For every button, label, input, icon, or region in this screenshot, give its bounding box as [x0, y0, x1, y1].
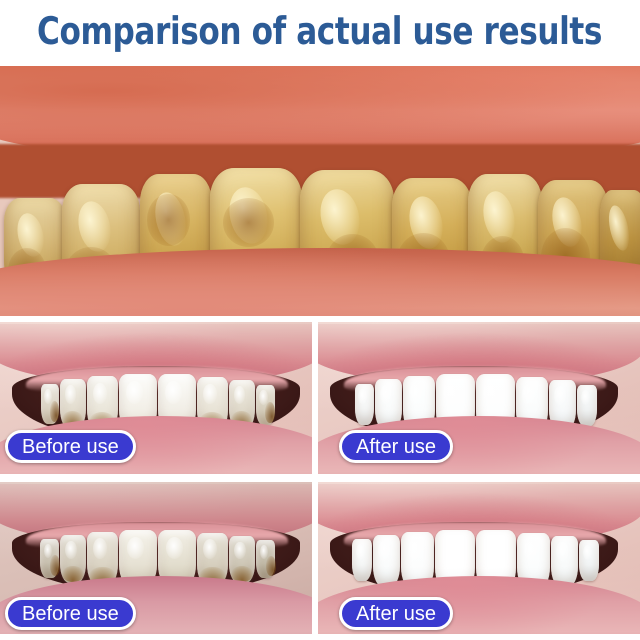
- tooth-shine: [522, 384, 536, 405]
- tooth-shine: [203, 384, 217, 405]
- tooth-shine: [93, 383, 107, 404]
- tooth-shine: [165, 381, 182, 404]
- badge-before-use-upper: Before use: [5, 430, 136, 463]
- tooth: [60, 535, 86, 583]
- tooth-stain: [266, 556, 276, 576]
- tooth: [256, 385, 275, 425]
- tooth-shine: [65, 541, 77, 559]
- badge-label: Before use: [22, 604, 119, 624]
- tooth-shine: [356, 544, 365, 560]
- tooth-shine: [443, 538, 461, 562]
- badge-before-use-lower: Before use: [5, 597, 136, 630]
- page-title-text: Comparison of actual use results: [37, 11, 602, 51]
- separator-top: [0, 316, 640, 322]
- tooth: [355, 384, 374, 425]
- tooth-shine: [581, 390, 590, 406]
- tooth-shine: [408, 539, 423, 561]
- tooth-stain: [147, 194, 190, 245]
- separator-vertical-middle-row: [312, 322, 318, 474]
- tooth: [373, 535, 400, 587]
- tooth-shine: [260, 545, 269, 559]
- tooth-shine: [358, 389, 367, 405]
- tooth-stain: [50, 555, 60, 575]
- badge-label: After use: [356, 437, 436, 457]
- tooth-shine: [484, 538, 502, 562]
- tooth: [229, 536, 255, 583]
- tooth: [352, 539, 372, 581]
- tooth: [579, 540, 599, 581]
- lower-lip-region: [0, 248, 640, 316]
- badge-after-use-upper: After use: [339, 430, 453, 463]
- tooth-shine: [93, 538, 107, 559]
- tooth-shine: [554, 386, 566, 405]
- tooth: [40, 539, 59, 578]
- tooth: [256, 540, 275, 578]
- tooth: [41, 384, 59, 424]
- tooth-shine: [443, 381, 461, 405]
- tooth-shine: [524, 540, 539, 562]
- tooth-shine: [127, 537, 144, 559]
- tooth-shine: [65, 385, 77, 404]
- hero-photo-scene: [0, 66, 640, 316]
- tooth-shine: [556, 542, 568, 561]
- badge-after-use-lower: After use: [339, 597, 453, 630]
- tooth: [577, 385, 597, 426]
- tooth-shine: [380, 385, 392, 404]
- product-comparison-image: Comparison of actual use results: [0, 0, 640, 640]
- tooth-stain: [50, 401, 60, 422]
- badge-label: After use: [356, 604, 436, 624]
- tooth-stain: [265, 402, 275, 423]
- tooth-shine: [409, 383, 423, 405]
- tooth-shine: [166, 537, 183, 559]
- tooth-shine: [234, 542, 246, 560]
- hero-photo-stained-teeth: [0, 66, 640, 316]
- badge-label: Before use: [22, 437, 119, 457]
- tooth-shine: [126, 381, 143, 404]
- separator-middle: [0, 474, 640, 482]
- tooth-stain: [223, 198, 275, 247]
- tooth-shine: [234, 386, 246, 405]
- page-title: Comparison of actual use results: [0, 0, 640, 62]
- tooth-shine: [483, 381, 501, 405]
- tooth-shine: [203, 539, 217, 559]
- tooth-shine: [583, 545, 592, 561]
- tooth-stain: [62, 566, 84, 582]
- tooth-gloss: [606, 204, 634, 253]
- tooth-shine: [378, 541, 390, 561]
- separator-vertical-bottom-row: [312, 482, 318, 640]
